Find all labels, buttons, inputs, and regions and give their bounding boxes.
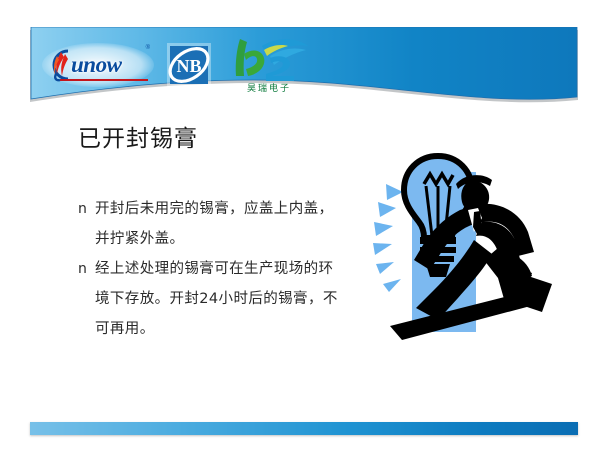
unow-underline xyxy=(60,79,148,81)
haorui-chinese-name: 昊瑞电子 xyxy=(229,81,309,94)
registered-mark-icon: ® xyxy=(146,45,150,51)
footer-accent-bar xyxy=(30,422,578,435)
bullet-text: 经上述处理的锡膏可在生产现场的环境下存放。开封24小时后的锡膏，不可再用。 xyxy=(95,254,340,344)
unow-logo: unow ® xyxy=(44,41,152,89)
unow-wordmark: unow xyxy=(71,53,121,76)
svg-text:NB: NB xyxy=(176,56,201,76)
nb-logo: NB xyxy=(166,42,212,88)
list-item: n 经上述处理的锡膏可在生产现场的环境下存放。开封24小时后的锡膏，不可再用。 xyxy=(78,254,340,344)
haorui-logo: 昊瑞电子 xyxy=(226,34,312,96)
slide-canvas: unow ® NB xyxy=(0,0,600,463)
bullet-marker-icon: n xyxy=(78,194,95,224)
list-item: n 开封后未用完的锡膏，应盖上内盖，并拧紧外盖。 xyxy=(78,194,340,254)
logo-row: unow ® NB xyxy=(30,27,578,102)
businessman-pushing-lightbulb-icon xyxy=(356,144,572,356)
page-title: 已开封锡膏 xyxy=(78,119,198,153)
bullet-text: 开封后未用完的锡膏，应盖上内盖，并拧紧外盖。 xyxy=(95,194,340,254)
body-content: n 开封后未用完的锡膏，应盖上内盖，并拧紧外盖。 n 经上述处理的锡膏可在生产现… xyxy=(78,194,340,344)
bullet-marker-icon: n xyxy=(78,254,95,284)
